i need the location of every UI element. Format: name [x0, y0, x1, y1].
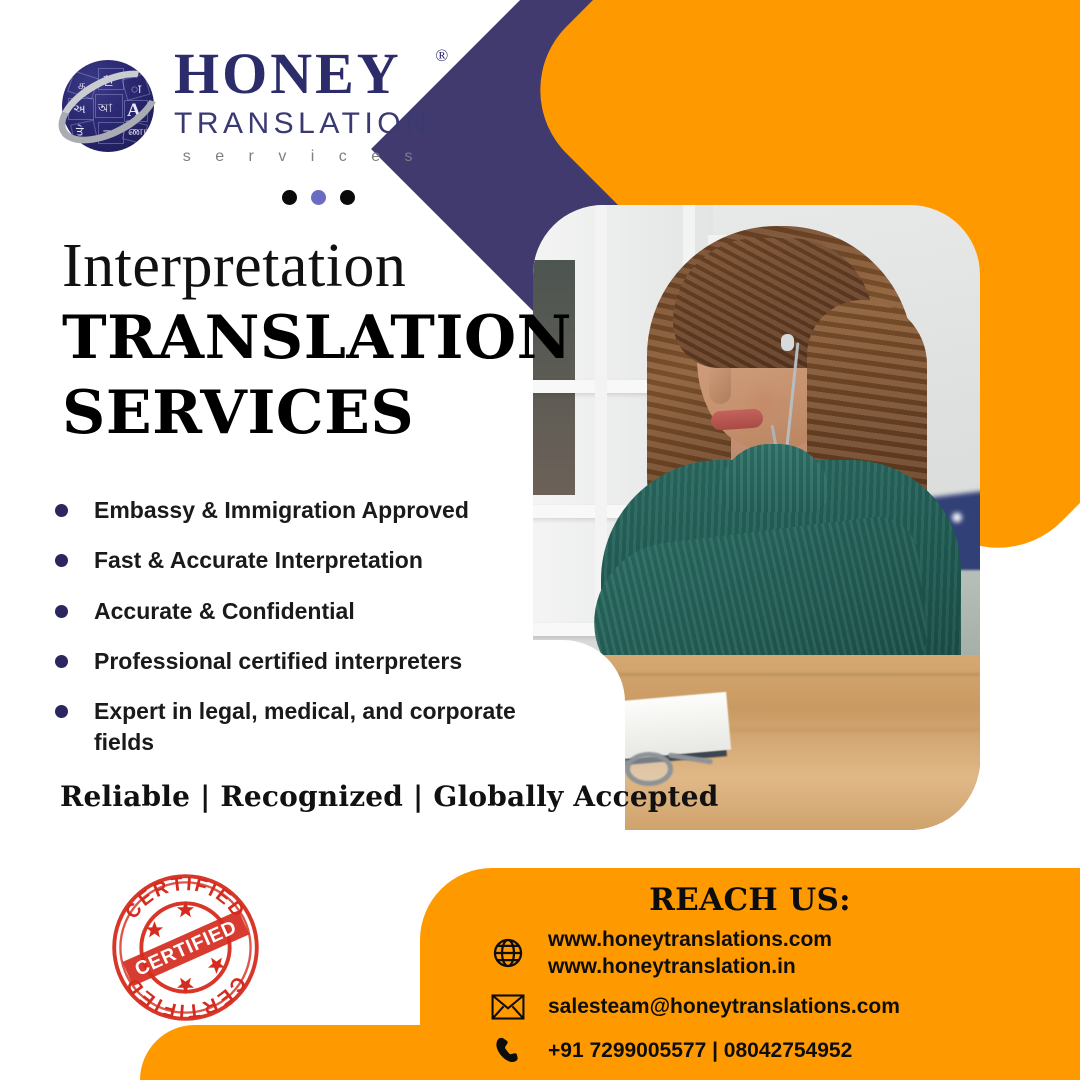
headline-bold-line2: SERVICES — [62, 380, 572, 447]
logo-dot-group — [56, 190, 431, 205]
globe-icon: க 한 ा અ আ A ਤੇ ア ணா — [56, 54, 160, 158]
interpreter-figure — [611, 205, 941, 712]
logo-wordmark: HONEY® TRANSLATION s e r v i c e s — [174, 46, 431, 166]
contact-row-email[interactable]: salesteam@honeytranslations.com — [490, 989, 1080, 1025]
globe-icon — [490, 935, 526, 971]
contact-panel: REACH US: www.honeytranslations.com www.… — [420, 868, 1080, 1080]
bullet-dot-icon — [55, 605, 68, 618]
headline-bold-line1: TRANSLATION — [62, 305, 572, 372]
logo-services-text: s e r v i c e s — [174, 148, 431, 166]
feature-label: Expert in legal, medical, and corporate … — [94, 696, 525, 757]
list-item: Accurate & Confidential — [55, 596, 525, 626]
list-item: Fast & Accurate Interpretation — [55, 545, 525, 575]
feature-label: Professional certified interpreters — [94, 646, 462, 676]
feature-label: Embassy & Immigration Approved — [94, 495, 469, 525]
contact-heading: REACH US: — [420, 882, 1080, 918]
list-item: Professional certified interpreters — [55, 646, 525, 676]
phone-label[interactable]: +91 7299005577 | 08042754952 — [548, 1037, 852, 1064]
bullet-dot-icon — [55, 504, 68, 517]
glasses-temple — [668, 753, 713, 765]
page-title: Interpretation TRANSLATION SERVICES — [62, 235, 572, 447]
envelope-icon — [490, 989, 526, 1025]
certified-stamp-svg: CERTIFIED CERTIFIED CERTIFIED — [108, 870, 263, 1025]
bullet-dot-icon — [55, 655, 68, 668]
logo-honey-label: HONEY — [174, 41, 402, 106]
logo-dot-2 — [311, 190, 326, 205]
certified-stamp-icon: CERTIFIED CERTIFIED CERTIFIED — [108, 870, 263, 1025]
registered-trademark-icon: ® — [435, 48, 451, 64]
logo-row: க 한 ा અ আ A ਤੇ ア ணா HONEY® TRANSLATION s… — [56, 46, 431, 166]
tagline: Reliable | Recognized | Globally Accepte… — [60, 780, 719, 813]
poster-canvas: க 한 ा અ আ A ਤੇ ア ணா HONEY® TRANSLATION s… — [0, 0, 1080, 1080]
email-label[interactable]: salesteam@honeytranslations.com — [548, 993, 900, 1020]
feature-label: Accurate & Confidential — [94, 596, 355, 626]
list-item: Expert in legal, medical, and corporate … — [55, 696, 525, 757]
brand-logo[interactable]: க 한 ा અ আ A ਤੇ ア ணா HONEY® TRANSLATION s… — [56, 46, 431, 205]
logo-translation-text: TRANSLATION — [174, 107, 431, 141]
nose — [709, 368, 731, 404]
logo-honey-text: HONEY® — [174, 46, 431, 101]
website-line-1[interactable]: www.honeytranslations.com — [548, 926, 832, 953]
logo-dot-1 — [282, 190, 297, 205]
bullet-dot-icon — [55, 554, 68, 567]
contact-row-phone[interactable]: +91 7299005577 | 08042754952 — [490, 1033, 1080, 1069]
contact-row-website[interactable]: www.honeytranslations.com www.honeytrans… — [490, 926, 1080, 981]
list-item: Embassy & Immigration Approved — [55, 495, 525, 525]
earbud-icon — [781, 334, 794, 351]
headline-script: Interpretation — [62, 235, 572, 297]
bullet-dot-icon — [55, 705, 68, 718]
phone-icon — [490, 1033, 526, 1069]
feature-label: Fast & Accurate Interpretation — [94, 545, 423, 575]
lips — [710, 408, 763, 431]
website-line-2[interactable]: www.honeytranslation.in — [548, 953, 832, 980]
website-labels: www.honeytranslations.com www.honeytrans… — [548, 926, 832, 981]
feature-list: Embassy & Immigration Approved Fast & Ac… — [55, 495, 525, 777]
logo-dot-3 — [340, 190, 355, 205]
